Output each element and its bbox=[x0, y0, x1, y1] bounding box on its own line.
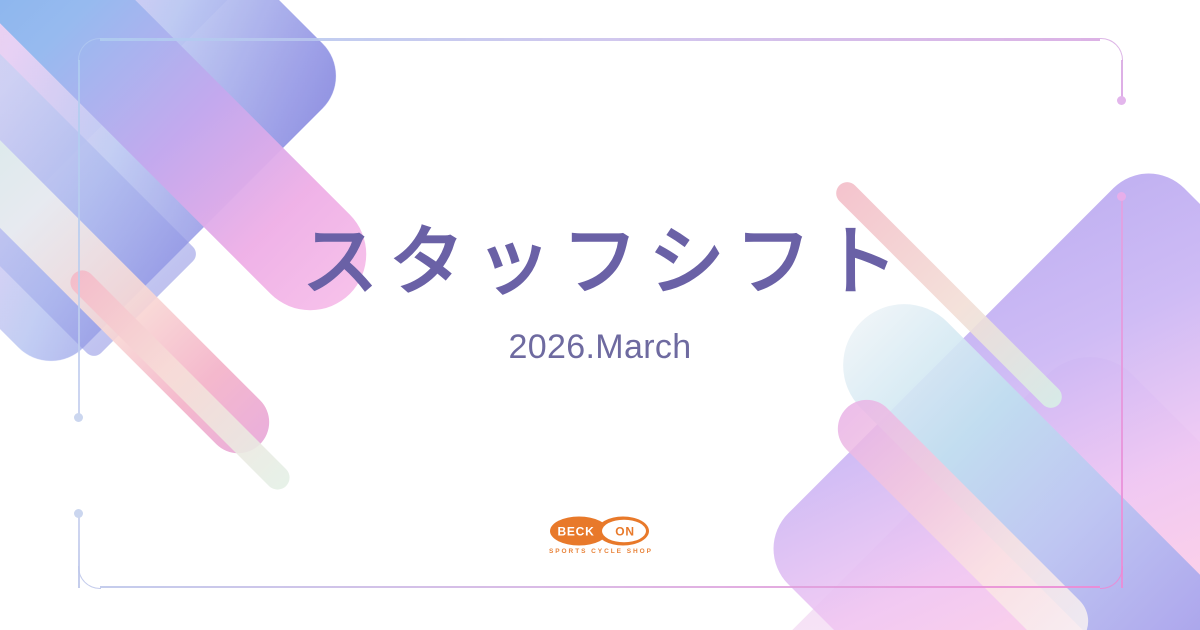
bottom-right-gradient-wash-secondary bbox=[722, 332, 1200, 630]
frame-gap-dot-left-upper bbox=[74, 413, 83, 422]
frame-corner-bottom-right bbox=[1100, 566, 1123, 589]
page-title: スタッフシフト bbox=[0, 222, 1200, 304]
logo-word-right: ON bbox=[615, 525, 635, 539]
frame-edge-bottom bbox=[100, 586, 1100, 588]
headline-block: スタッフシフト 2026.March bbox=[0, 222, 1200, 364]
brand-logo: BECK ON SPORTS CYCLE SHOP bbox=[0, 516, 1200, 556]
frame-gap-dot-right-upper bbox=[1117, 96, 1126, 105]
beck-on-logo-icon: BECK ON bbox=[550, 516, 650, 546]
logo-tagline: SPORTS CYCLE SHOP bbox=[547, 549, 653, 556]
page-subtitle-month: 2026.March bbox=[0, 330, 1200, 364]
frame-gap-dot-right-lower bbox=[1117, 192, 1126, 201]
frame-edge-right-upper bbox=[1121, 60, 1123, 100]
logo-word-left: BECK bbox=[557, 525, 594, 539]
frame-corner-top-right bbox=[1100, 38, 1123, 61]
shift-schedule-cover: スタッフシフト 2026.March BECK ON SPORTS CYCLE … bbox=[0, 0, 1200, 630]
frame-corner-top-left bbox=[78, 38, 101, 61]
frame-corner-bottom-left bbox=[78, 566, 101, 589]
decor-bar-bottom-right-pink bbox=[826, 388, 1100, 630]
frame-edge-top bbox=[100, 38, 1100, 41]
